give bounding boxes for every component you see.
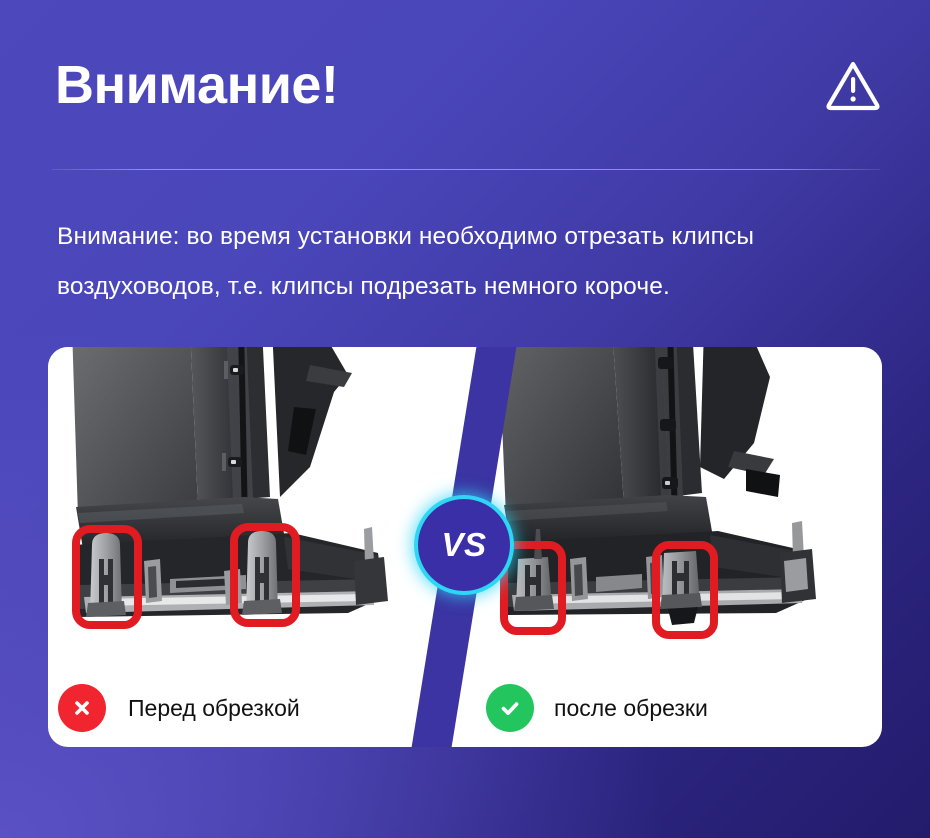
poster-root: Внимание! Внимание: во время установки н…	[0, 0, 930, 838]
photo-after-cutting	[462, 347, 882, 667]
vs-badge: VS	[418, 499, 510, 591]
check-icon	[486, 684, 534, 732]
caption-after-label: после обрезки	[554, 695, 708, 722]
header: Внимание!	[55, 48, 881, 122]
page-title: Внимание!	[55, 58, 338, 112]
caption-before-label: Перед обрезкой	[128, 695, 300, 722]
warning-triangle-icon	[825, 58, 881, 112]
clip-long-left	[86, 533, 126, 617]
intro-paragraph: Внимание: во время установки необходимо …	[57, 212, 887, 312]
comparison-card: VS Перед обрезкой после обрезки	[48, 347, 882, 747]
cross-icon	[58, 684, 106, 732]
caption-before: Перед обрезкой	[58, 669, 300, 747]
vs-label: VS	[441, 526, 486, 564]
photo-before-cutting	[48, 347, 468, 667]
clip-long-right	[242, 531, 282, 615]
caption-after: после обрезки	[486, 669, 708, 747]
header-divider	[52, 169, 880, 170]
